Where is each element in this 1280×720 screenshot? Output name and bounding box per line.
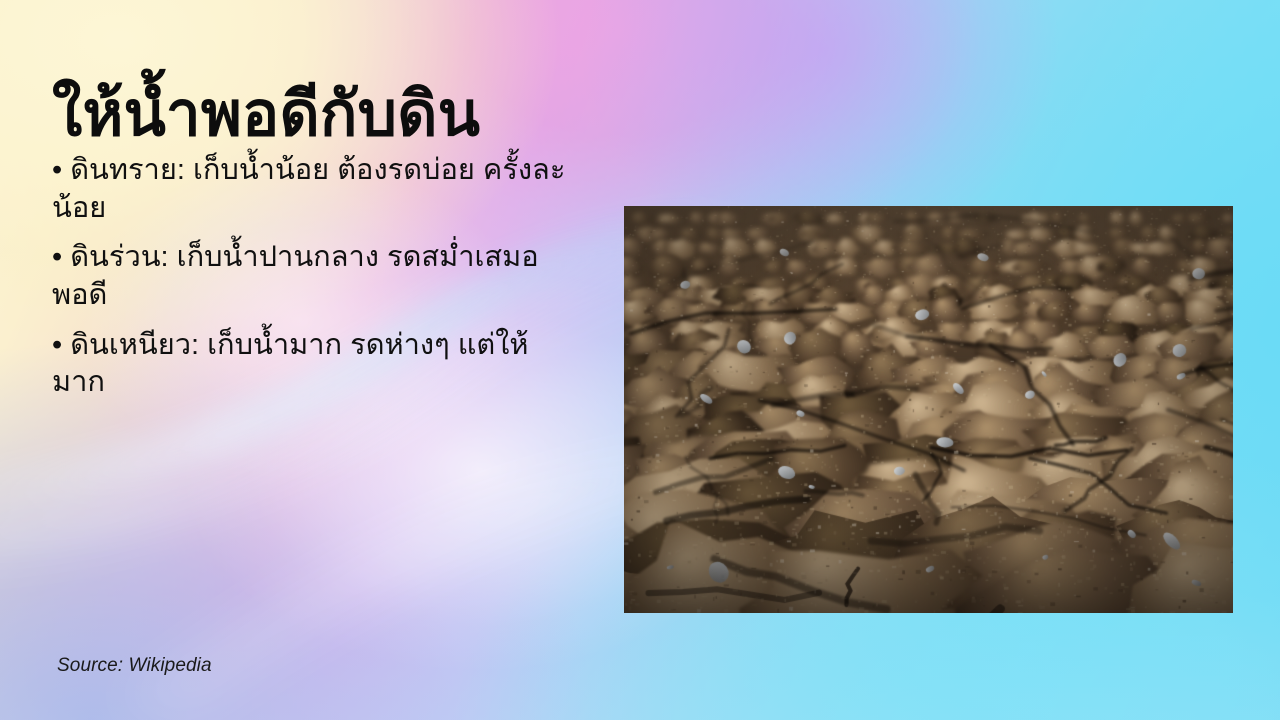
cracked-dry-soil-photo <box>624 206 1233 613</box>
slide-canvas: ให้น้ำพอดีกับดิน • ดินทราย: เก็บน้ำน้อย … <box>0 0 1280 720</box>
bullet-list: • ดินทราย: เก็บน้ำน้อย ต้องรดบ่อย ครั้งล… <box>52 152 572 414</box>
bullet-item-loam-soil: • ดินร่วน: เก็บน้ำปานกลาง รดสม่ำเสมอพอดี <box>52 239 572 314</box>
source-caption: Source: Wikipedia <box>57 655 212 677</box>
slide-title: ให้น้ำพอดีกับดิน <box>52 80 952 149</box>
cracked-dry-soil-photo-canvas <box>624 206 1233 613</box>
bullet-item-clay-soil: • ดินเหนียว: เก็บน้ำมาก รดห่างๆ แต่ให้มา… <box>52 327 572 402</box>
bullet-item-sandy-soil: • ดินทราย: เก็บน้ำน้อย ต้องรดบ่อย ครั้งล… <box>52 152 572 227</box>
